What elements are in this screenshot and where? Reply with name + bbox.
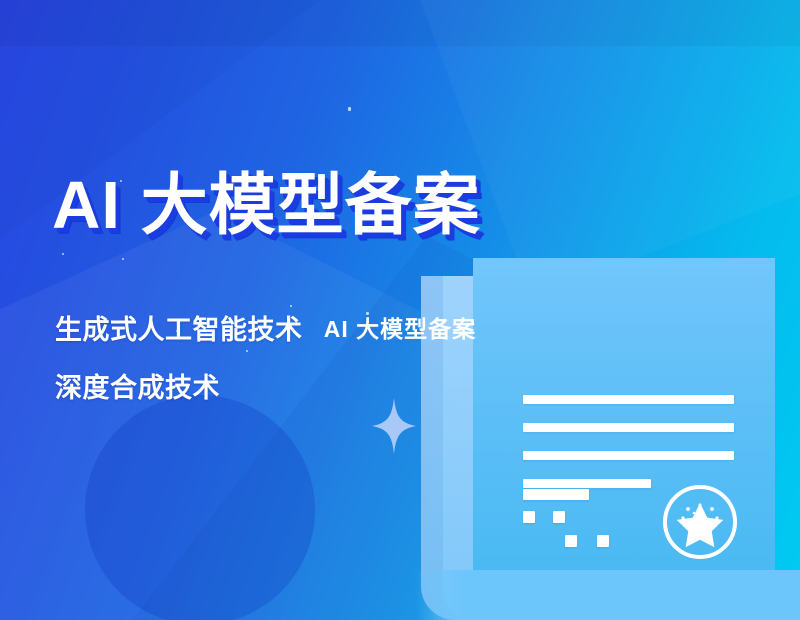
content-line-2 bbox=[523, 423, 734, 432]
sparkle-dot bbox=[246, 350, 248, 352]
content-line-4 bbox=[523, 479, 651, 488]
four-point-sparkle-icon bbox=[372, 398, 416, 454]
background-circle bbox=[85, 395, 315, 620]
star-certification-badge bbox=[661, 483, 739, 561]
page-title: AI 大模型备案 bbox=[52, 168, 481, 243]
content-short-bar bbox=[523, 489, 589, 500]
top-band bbox=[0, 0, 800, 46]
bg-facet-topright bbox=[420, 0, 800, 300]
promo-banner: AI 大模型备案 生成式人工智能技术 深度合成技术 AI 大模型备案 bbox=[0, 0, 800, 620]
document-card-title: AI 大模型备案 bbox=[0, 310, 800, 344]
sparkle-dot bbox=[122, 258, 124, 260]
content-square-1 bbox=[523, 511, 535, 523]
sparkle-dot bbox=[62, 253, 64, 255]
content-line-1 bbox=[523, 395, 734, 404]
content-line-3 bbox=[523, 451, 734, 460]
subtitle-line-2: 深度合成技术 bbox=[55, 366, 220, 405]
sparkle-dot bbox=[348, 107, 351, 111]
content-square-3 bbox=[565, 535, 577, 547]
content-square-2 bbox=[553, 511, 565, 523]
content-square-4 bbox=[597, 535, 609, 547]
sparkle-dot bbox=[290, 305, 292, 307]
